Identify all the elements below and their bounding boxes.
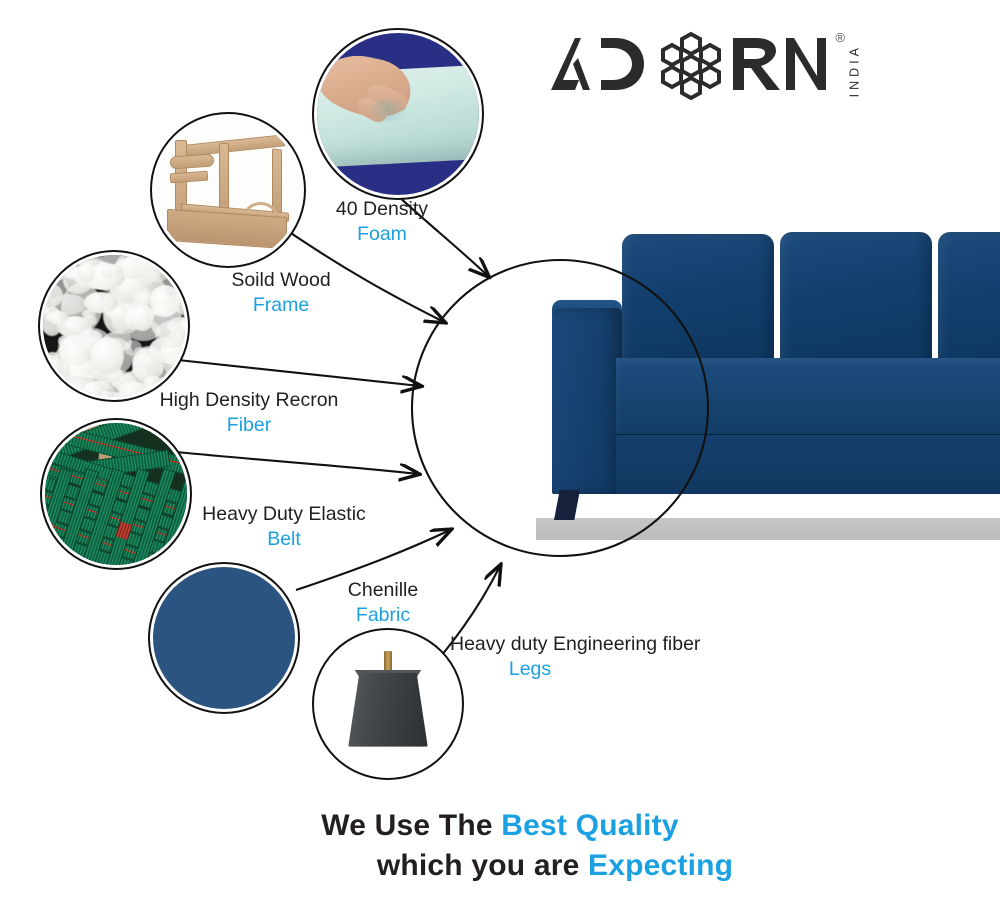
foam-hand-press-icon [317,33,479,195]
infographic-canvas: INDIA ® [0,0,1000,909]
tagline: We Use The Best Quality which you are Ex… [0,806,1000,886]
back-cushion-2 [780,232,932,362]
seat-cushion-row [616,358,1000,436]
floor-shadow-strip [536,518,1000,540]
thumbnail-fabric[interactable] [148,562,300,714]
back-cushion-3 [938,232,1000,362]
label-legs: Heavy duty Engineering fiber Legs [450,632,610,682]
adorn-wordmark-icon [545,28,827,100]
tagline-line-2: which you are Expecting [0,846,1000,886]
sofa-base-skirt [616,434,1000,494]
label-belt: Heavy Duty Elastic Belt [196,502,372,552]
wooden-frame-icon [155,117,301,263]
sofa-leg-icon [317,633,459,775]
label-fiber: High Density Recron Fiber [153,388,345,438]
tagline-line-1: We Use The Best Quality [0,806,1000,846]
hexagon-honeycomb-icon [663,34,719,98]
thumbnail-foam[interactable] [312,28,484,200]
arrow-fiber [178,360,420,386]
thumbnail-frame[interactable] [150,112,306,268]
thumbnail-belt[interactable] [40,418,192,570]
elastic-webbing-belt-icon [45,423,187,565]
recron-fiber-icon [43,255,185,397]
label-frame: Soild Wood Frame [222,268,340,318]
sofa-product-image [512,228,1000,540]
arrow-belt [176,452,418,474]
chenille-fabric-swatch-icon [153,567,295,709]
label-foam: 40 Density Foam [322,197,442,247]
thumbnail-legs[interactable] [312,628,464,780]
registered-trademark-icon: ® [835,30,845,45]
armrest [552,308,622,494]
sofa-leg-front-left [554,490,580,520]
thumbnail-fiber[interactable] [38,250,190,402]
label-fabric: Chenille Fabric [333,578,433,628]
brand-logo: INDIA ® [545,28,845,106]
logo-country-label: INDIA [847,44,861,97]
back-cushion-1 [622,234,774,362]
